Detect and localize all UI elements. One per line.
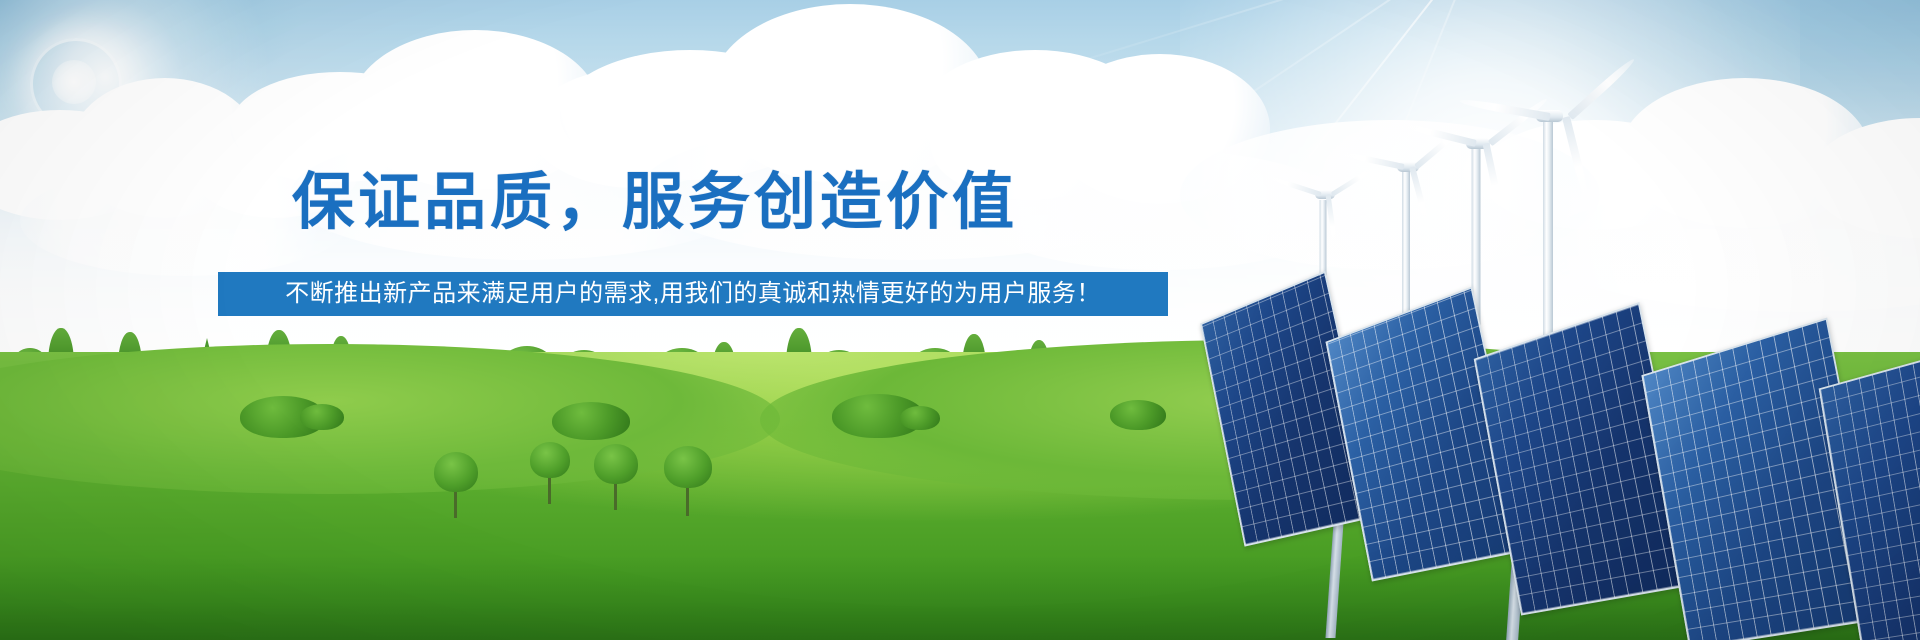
sapling-foliage [434, 452, 478, 492]
sapling-foliage [594, 444, 638, 484]
sapling-foliage [664, 446, 712, 488]
bush [900, 406, 940, 430]
subtitle-banner: 不断推出新产品来满足用户的需求,用我们的真诚和热情更好的为用户服务！ [218, 272, 1168, 316]
page-title: 保证品质，服务创造价值 [0, 168, 1310, 238]
subtitle-text: 不断推出新产品来满足用户的需求,用我们的真诚和热情更好的为用户服务！ [285, 280, 1101, 308]
sun-core-icon [52, 60, 96, 104]
solar-panel-array [1150, 240, 1920, 640]
bush [552, 402, 630, 440]
bush [300, 404, 344, 430]
hero-banner: 保证品质，服务创造价值 不断推出新产品来满足用户的需求,用我们的真诚和热情更好的… [0, 0, 1920, 640]
sapling-foliage [530, 442, 570, 478]
